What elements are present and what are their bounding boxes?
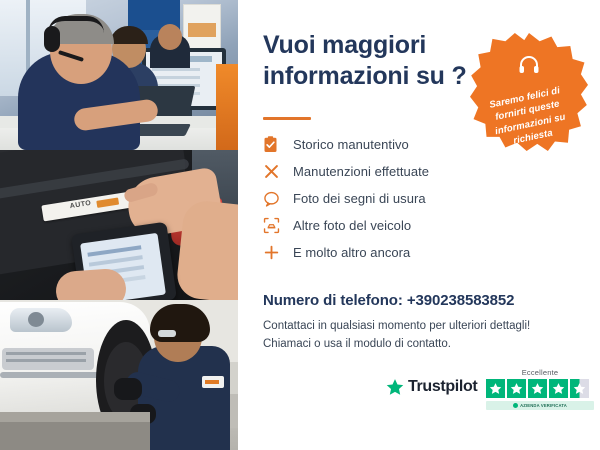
star-filled-icon: [507, 379, 526, 398]
contact-subtext-line1: Contattaci in qualsiasi momento per ulte…: [263, 318, 563, 336]
contact-subtext: Contattaci in qualsiasi momento per ulte…: [263, 318, 563, 354]
speech-bubble-icon: [263, 191, 293, 207]
verified-badge: AZIENDA VERIFICATA: [486, 401, 594, 410]
feature-label: Manutenzioni effettuate: [293, 164, 429, 179]
trustpilot-name: Trustpilot: [408, 378, 477, 396]
plus-icon: [263, 244, 293, 261]
trustpilot-widget[interactable]: Trustpilot Eccellente AZIENDA VERIFICATA: [386, 368, 594, 416]
rating-label: Eccellente: [486, 368, 594, 377]
feature-item-foto-segni-usura[interactable]: Foto dei segni di usura: [263, 185, 513, 212]
mechanic-wheel-inspection-photo: [0, 300, 238, 450]
feature-item-altre-foto-veicolo[interactable]: Altre foto del veicolo: [263, 212, 513, 239]
feature-label: Foto dei segni di usura: [293, 191, 426, 206]
feature-label: Storico manutentivo: [293, 137, 409, 152]
content-panel: Vuoi maggiori informazioni su ? Saremo f…: [238, 0, 600, 450]
feature-label: Altre foto del veicolo: [293, 218, 411, 233]
wrench-cross-icon: [263, 163, 293, 180]
feature-item-molto-altro[interactable]: E molto altro ancora: [263, 239, 513, 266]
trustpilot-rating-block: Eccellente AZIENDA VERIFICATA: [486, 368, 594, 410]
verified-label: AZIENDA VERIFICATA: [520, 403, 567, 408]
star-filled-icon: [486, 379, 505, 398]
contact-subtext-line2: Chiamaci o usa il modulo di contatto.: [263, 336, 563, 354]
feature-label: E molto altro ancora: [293, 245, 410, 260]
page-title-line2: informazioni su ?: [263, 61, 478, 92]
star-half-icon: [570, 379, 589, 398]
call-center-agents-photo: [0, 0, 238, 150]
star-filled-icon: [549, 379, 568, 398]
star-rating: [486, 379, 594, 398]
sticker-on-car-photo: [0, 150, 238, 300]
car-scan-icon: [263, 217, 293, 234]
check-circle-icon: [513, 403, 518, 408]
clipboard-check-icon: [263, 136, 293, 153]
title-divider: [263, 117, 311, 120]
page-title-line1: Vuoi maggiori: [263, 30, 478, 61]
headset-icon: [517, 53, 541, 75]
phone-number[interactable]: Numero di telefono: +390238583852: [263, 292, 514, 309]
trustpilot-logo: Trustpilot: [386, 378, 477, 396]
feature-list: Storico manutentivo Manutenzioni effettu…: [263, 131, 513, 266]
page-title: Vuoi maggiori informazioni su ?: [263, 30, 478, 91]
promo-page: Vuoi maggiori informazioni su ? Saremo f…: [0, 0, 600, 450]
star-filled-icon: [528, 379, 547, 398]
feature-item-manutenzioni-effettuate[interactable]: Manutenzioni effettuate: [263, 158, 513, 185]
feature-item-storico-manutentivo[interactable]: Storico manutentivo: [263, 131, 513, 158]
trustpilot-star-icon: [386, 378, 404, 396]
photo-column: [0, 0, 238, 450]
